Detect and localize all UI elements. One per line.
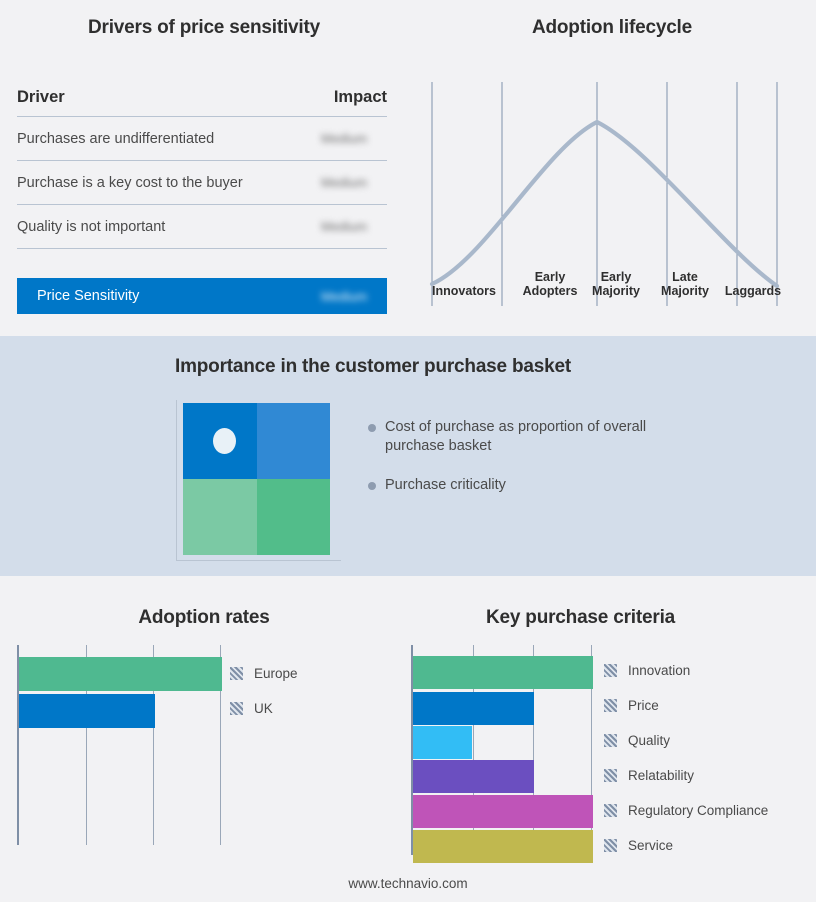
summary-impact-value: Medium (321, 289, 387, 304)
bar-service (413, 830, 593, 863)
impact-value: Medium (321, 131, 387, 146)
table-row: Quality is not important Medium (17, 205, 387, 249)
legend-item: Quality (604, 733, 768, 748)
legend-label: Innovation (628, 663, 690, 678)
footer-url: www.technavio.com (0, 876, 816, 891)
column-header-impact: Impact (334, 88, 387, 107)
legend-label: Regulatory Compliance (628, 803, 768, 818)
hatch-swatch-icon (604, 734, 617, 747)
adoption-plot-area (17, 645, 222, 845)
hatch-swatch-icon (230, 702, 243, 715)
lifecycle-panel-title: Adoption lifecycle (408, 17, 816, 39)
criteria-panel-title: Key purchase criteria (408, 607, 753, 629)
key-purchase-criteria-chart (411, 645, 593, 855)
bar-relatability (413, 760, 534, 793)
drivers-panel-title: Drivers of price sensitivity (0, 17, 408, 39)
table-header-row: Driver Impact (17, 88, 387, 117)
adoption-rates-chart (17, 645, 222, 845)
legend-item: Service (604, 838, 768, 853)
bullet-icon (368, 482, 376, 490)
hatch-swatch-icon (604, 699, 617, 712)
legend-label: Europe (254, 666, 298, 681)
quadrant-horizontal-axis (176, 560, 341, 561)
legend-label: Service (628, 838, 673, 853)
legend-item: Regulatory Compliance (604, 803, 768, 818)
basket-legend: Cost of purchase as proportion of overal… (368, 418, 658, 515)
driver-name: Quality is not important (17, 219, 165, 235)
legend-item: UK (230, 701, 298, 716)
legend-label: Relatability (628, 768, 694, 783)
criteria-legend: Innovation Price Quality Relatability Re… (604, 663, 768, 853)
table-row: Purchase is a key cost to the buyer Medi… (17, 161, 387, 205)
segment-label-innovators: Innovators (422, 284, 506, 298)
table-row: Purchases are undifferentiated Medium (17, 117, 387, 161)
legend-item: Relatability (604, 768, 768, 783)
hatch-swatch-icon (604, 804, 617, 817)
bullet-icon (368, 424, 376, 432)
position-marker-icon (213, 428, 236, 454)
quadrant-vertical-axis (176, 400, 177, 560)
driver-name: Purchase is a key cost to the buyer (17, 175, 243, 191)
adoption-rates-legend: Europe UK (230, 666, 298, 716)
driver-name: Purchases are undifferentiated (17, 131, 214, 147)
bar-innovation (413, 656, 593, 689)
legend-item: Price (604, 698, 768, 713)
hatch-swatch-icon (604, 664, 617, 677)
quadrant-top-right (257, 403, 331, 479)
bar-regulatory-compliance (413, 795, 593, 828)
legend-item: Purchase criticality (368, 476, 658, 495)
impact-value: Medium (321, 219, 387, 234)
segment-label-laggards: Laggards (713, 284, 793, 298)
summary-label: Price Sensitivity (37, 288, 139, 304)
legend-label: Cost of purchase as proportion of overal… (385, 418, 658, 456)
legend-label: UK (254, 701, 273, 716)
column-header-driver: Driver (17, 88, 65, 107)
quadrant-chart (183, 403, 330, 555)
criteria-plot-area (411, 645, 593, 855)
adoption-rates-panel-title: Adoption rates (0, 607, 408, 629)
bar-price (413, 692, 534, 725)
basket-panel-title: Importance in the customer purchase bask… (0, 356, 746, 378)
bar-uk (19, 694, 155, 728)
bar-quality (413, 726, 472, 759)
quadrant-bottom-right (257, 479, 331, 555)
legend-label: Purchase criticality (385, 476, 506, 495)
hatch-swatch-icon (604, 839, 617, 852)
adoption-lifecycle-chart: Innovators Early Adopters Early Majority… (425, 78, 785, 308)
impact-value: Medium (321, 175, 387, 190)
bell-curve-path (432, 122, 777, 286)
quadrant-bottom-left (183, 479, 257, 555)
legend-item: Innovation (604, 663, 768, 678)
hatch-swatch-icon (604, 769, 617, 782)
legend-label: Quality (628, 733, 670, 748)
hatch-swatch-icon (230, 667, 243, 680)
legend-item: Europe (230, 666, 298, 681)
legend-item: Cost of purchase as proportion of overal… (368, 418, 658, 456)
legend-label: Price (628, 698, 659, 713)
drivers-table: Driver Impact Purchases are undifferenti… (17, 88, 387, 249)
bar-europe (19, 657, 222, 691)
price-sensitivity-summary-row: Price Sensitivity Medium (17, 278, 387, 314)
